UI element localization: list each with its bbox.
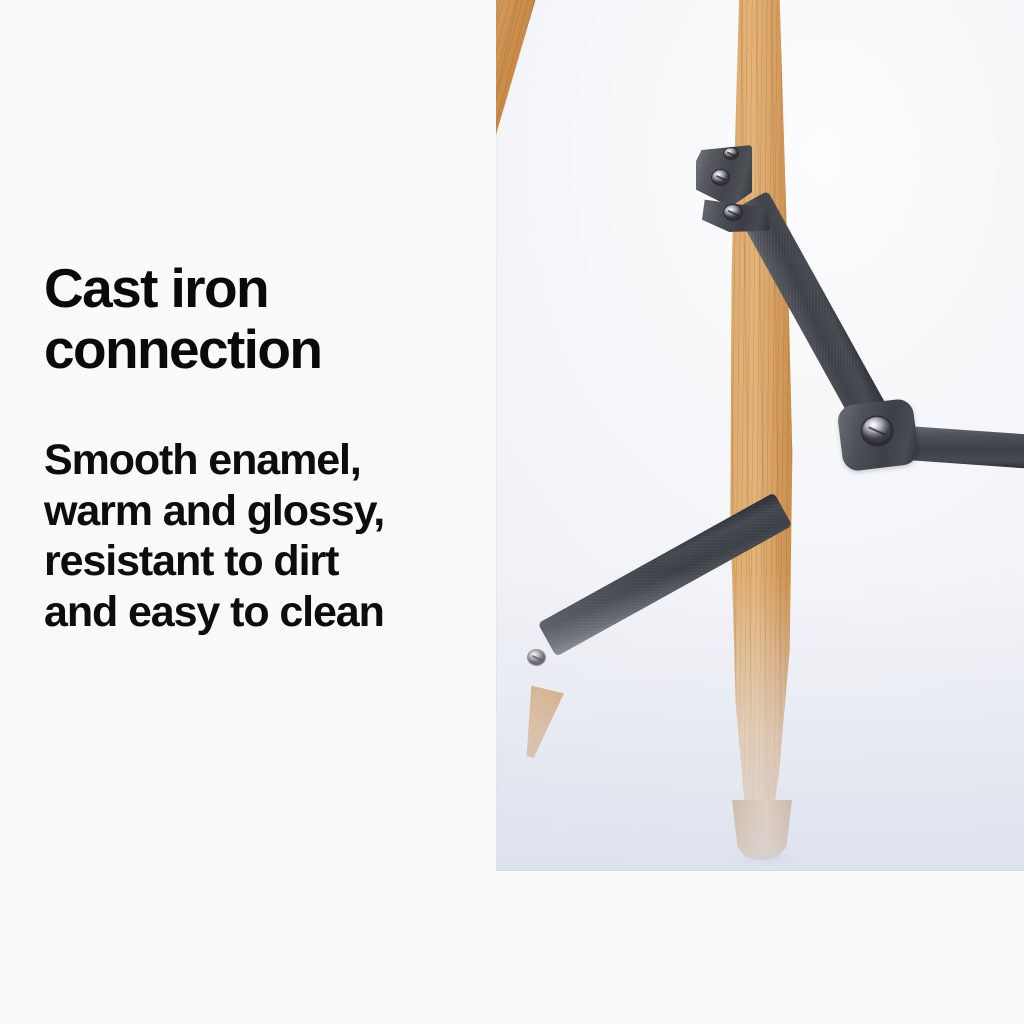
feature-description: Smooth enamel, warm and glossy, resistan… bbox=[44, 435, 484, 638]
bolt-icon bbox=[862, 417, 892, 445]
screw-slot-icon bbox=[868, 426, 886, 435]
screw-icon bbox=[712, 170, 729, 185]
product-feature-card: Cast iron connection Smooth enamel, warm… bbox=[0, 0, 1024, 1024]
page-title: Cast iron connection bbox=[44, 258, 484, 379]
screw-slot-icon bbox=[727, 151, 736, 156]
screw-icon bbox=[724, 205, 742, 220]
photo-bottom-edge bbox=[496, 870, 1024, 871]
product-photo bbox=[496, 0, 1024, 871]
screw-icon bbox=[724, 148, 738, 159]
screw-slot-icon bbox=[715, 174, 725, 180]
floor-gradient bbox=[496, 571, 1024, 871]
copy-block: Cast iron connection Smooth enamel, warm… bbox=[44, 258, 484, 638]
screw-slot-icon bbox=[727, 209, 738, 215]
